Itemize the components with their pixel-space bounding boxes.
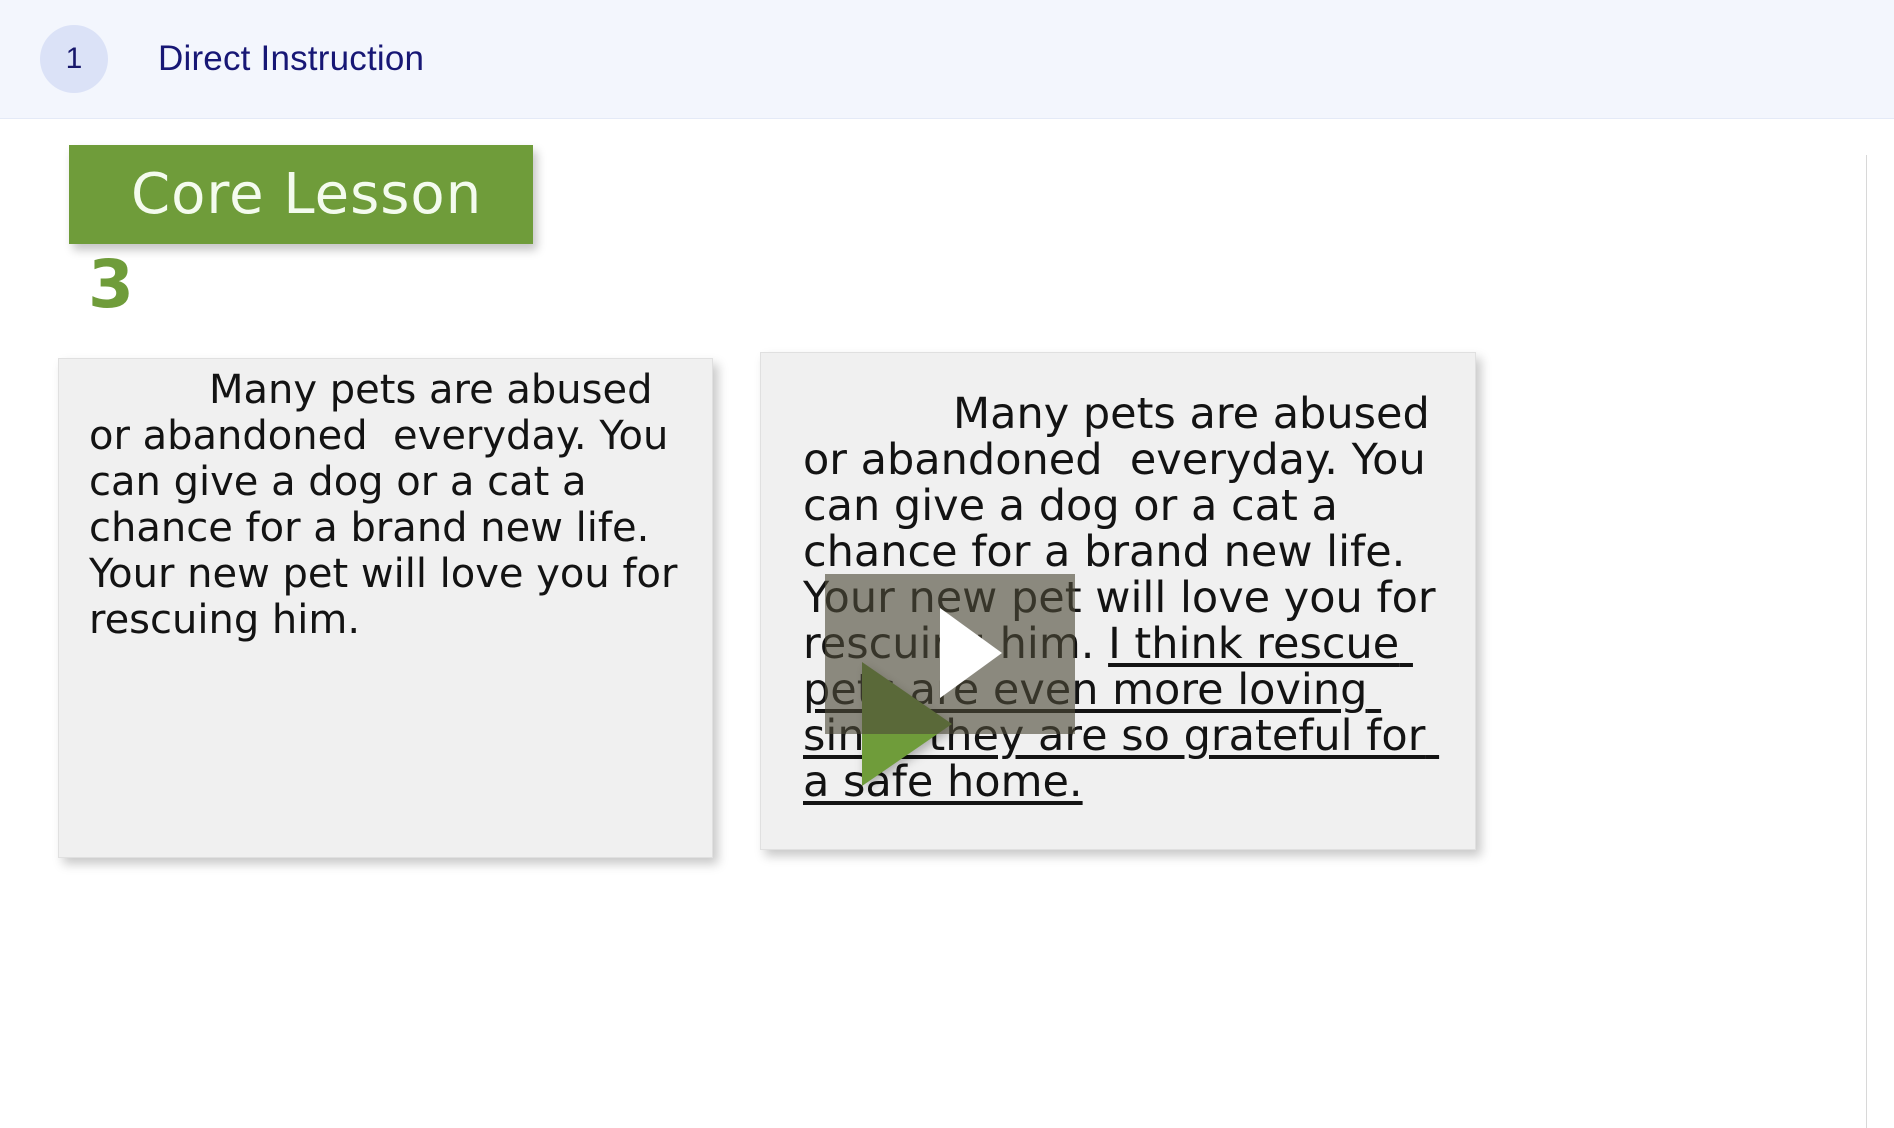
lesson-slide-page: 1 Direct Instruction Core Lesson 3 Many … bbox=[0, 0, 1894, 1128]
step-number-badge: 1 bbox=[40, 25, 108, 93]
page-divider bbox=[1866, 155, 1867, 1128]
page-title: Direct Instruction bbox=[158, 39, 424, 79]
paragraph-text-before: Many pets are abused or abandoned everyd… bbox=[89, 367, 699, 643]
core-lesson-label: Core Lesson bbox=[131, 167, 482, 223]
lesson-number: 3 bbox=[88, 252, 134, 318]
paragraph-card-before: Many pets are abused or abandoned everyd… bbox=[58, 358, 713, 858]
core-lesson-banner: Core Lesson bbox=[69, 145, 533, 244]
play-triangle-icon[interactable] bbox=[940, 608, 1002, 698]
lesson-step-header: 1 Direct Instruction bbox=[0, 0, 1894, 119]
